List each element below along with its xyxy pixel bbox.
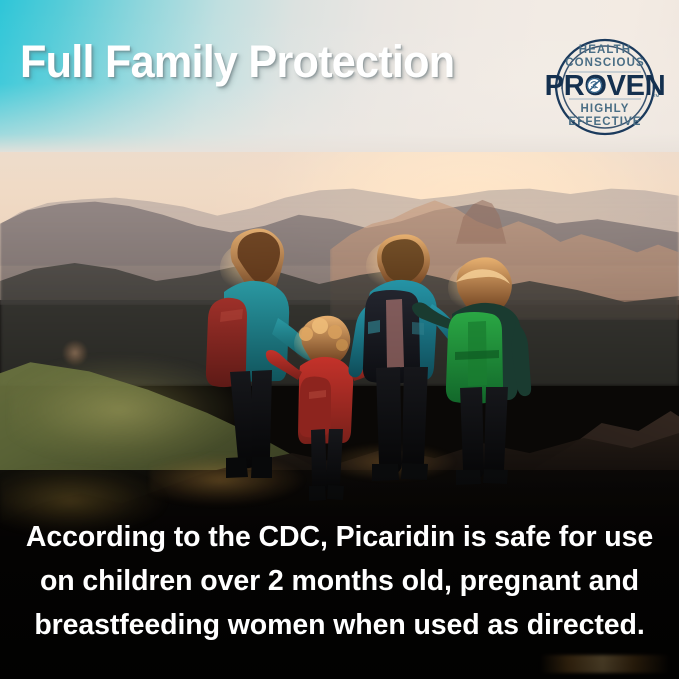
product-marketing-image: Full Family Protection HEALTH CONSCIOUS (0, 0, 679, 679)
page-title: Full Family Protection (20, 36, 529, 88)
seal-wordmark: PROVEN (545, 70, 666, 102)
seal-bottom-line-2: EFFECTIVE (568, 116, 641, 128)
mosquito-prohibited-icon (587, 78, 602, 93)
proven-seal-badge: HEALTH CONSCIOUS PROVEN HIGHLY (545, 27, 665, 137)
seal-trademark: ™ (653, 94, 660, 101)
seal-top-line-1: HEALTH (579, 44, 631, 56)
caption-line-3: breastfeeding women when used as directe… (0, 603, 679, 647)
caption-line-2: on children over 2 months old, pregnant … (0, 559, 679, 603)
seal-bottom-line-1: HIGHLY (581, 103, 630, 115)
caption-line-1: According to the CDC, Picaridin is safe … (0, 515, 679, 559)
caption-block: According to the CDC, Picaridin is safe … (0, 515, 679, 647)
seal-top-line-2: CONSCIOUS (565, 57, 645, 69)
